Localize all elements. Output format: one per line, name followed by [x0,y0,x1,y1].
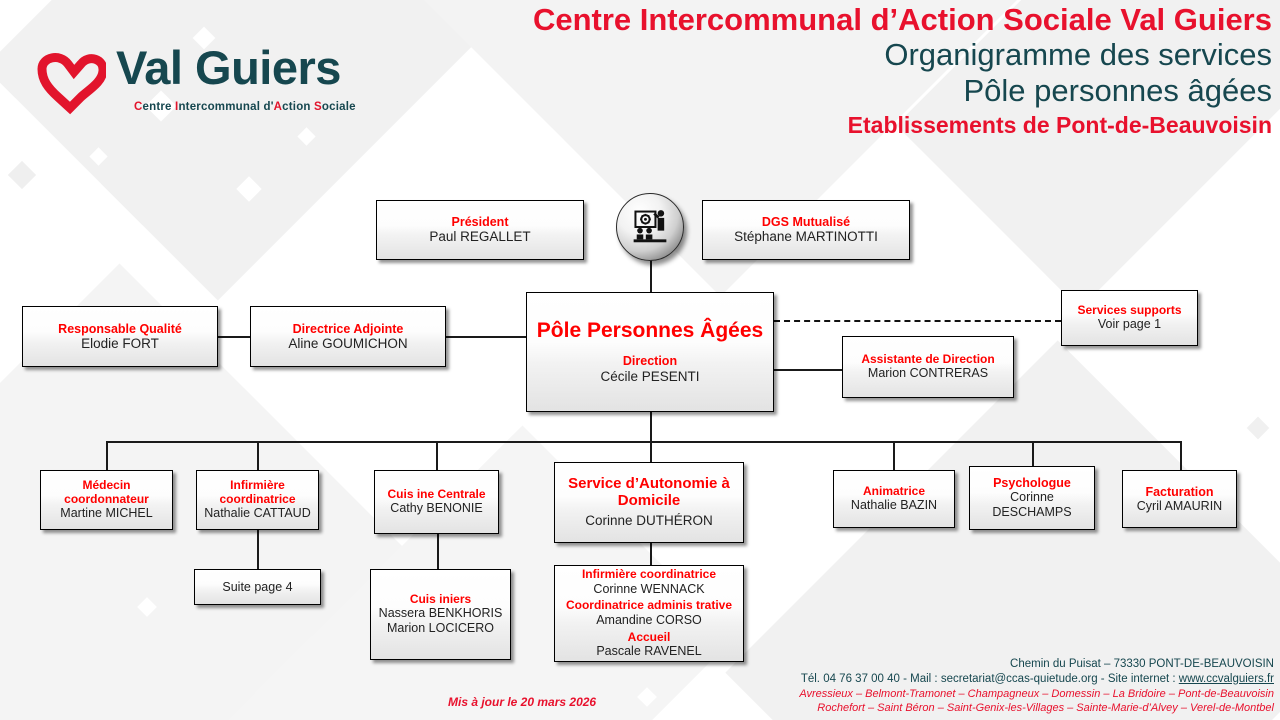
node-pole-personnes-agees[interactable]: Pôle Personnes Âgées Direction Cécile PE… [526,292,774,412]
node-infirmiere-coordinatrice[interactable]: Infirmière coordinatrice Nathalie CATTAU… [196,470,319,530]
node-dgs[interactable]: DGS Mutualisé Stéphane MARTINOTTI [702,200,910,260]
node-directrice-adjointe[interactable]: Directrice Adjointe Aline GOUMICHON [250,306,446,367]
title-line-4: Etablissements de Pont-de-Beauvoisin [533,111,1272,140]
node-adjointe-title: Directrice Adjointe [293,322,404,336]
connector-icon-to-pole [650,258,652,292]
node-dgs-name: Stéphane MARTINOTTI [734,229,878,245]
logo-tagline: Centre Intercommunal d'Action Sociale [134,101,356,113]
node-pole-name: Cécile PESENTI [600,369,699,385]
connector-pole-stem [650,412,652,442]
node-president-title: Président [452,215,509,229]
training-presentation-icon [616,193,684,261]
node-qualite-name: Elodie FORT [81,336,159,352]
sad-sub-row-0-name: Corinne WENNACK [582,582,716,597]
node-pole-subtitle: Direction [623,354,677,369]
node-animatrice-title: Animatrice [863,485,925,498]
connector-drop-facturation [1180,441,1182,470]
sad-sub-row-0: Infirmière coordinatrice Corinne WENNACK [582,568,716,596]
footer-contact: Tél. 04 76 37 00 40 - Mail : secretariat… [799,672,1274,687]
node-psychologue[interactable]: Psychologue Corinne DESCHAMPS [969,466,1095,530]
sad-sub-row-0-title: Infirmière coordinatrice [582,568,716,581]
node-dgs-title: DGS Mutualisé [762,215,850,229]
footer-website-link[interactable]: www.ccvalguiers.fr [1179,673,1274,685]
sad-sub-row-1-title: Coordinatrice adminis trative [566,599,732,612]
connector-sad-sub [650,543,652,565]
brand-logo: Val Guiers Centre Intercommunal d'Action… [30,36,360,126]
node-facturation[interactable]: Facturation Cyril AMAURIN [1122,470,1237,528]
node-qualite-title: Responsable Qualité [58,322,182,336]
connector-adjointe-pole [444,336,528,338]
node-animatrice[interactable]: Animatrice Nathalie BAZIN [833,470,955,528]
node-supports-title: Services supports [1077,304,1181,317]
node-supports-name: Voir page 1 [1098,317,1161,332]
node-cuisiniers-title: Cuis iniers [410,593,471,606]
node-animatrice-name: Nathalie BAZIN [851,498,937,513]
title-line-2: Organigramme des services [533,37,1272,73]
title-line-1: Centre Intercommunal d’Action Sociale Va… [533,2,1272,37]
node-assistante-direction[interactable]: Assistante de Direction Marion CONTRERAS [842,336,1014,398]
sad-sub-row-1: Coordinatrice adminis trative Amandine C… [566,599,732,627]
node-psychologue-title: Psychologue [993,476,1071,490]
connector-cuisine-cuisiniers [437,534,439,569]
title-line-3: Pôle personnes âgées [533,73,1272,109]
page-title-block: Centre Intercommunal d’Action Sociale Va… [533,2,1272,140]
connector-infirmiere-suite4 [257,530,259,569]
node-psychologue-name: Corinne DESCHAMPS [975,490,1089,520]
sad-sub-row-1-name: Amandine CORSO [566,613,732,628]
footer-towns-line-2: Rochefort – Saint Béron – Saint-Genix-le… [799,701,1274,716]
node-suite-page-4[interactable]: Suite page 4 [194,569,321,605]
node-president-name: Paul REGALLET [429,229,530,245]
connector-drop-cuisine [436,441,438,470]
node-sad-title: Service d’Autonomie à Domicile [560,476,738,510]
node-services-supports[interactable]: Services supports Voir page 1 [1061,290,1198,346]
node-cuisine-title: Cuis ine Centrale [387,488,485,501]
node-responsable-qualite[interactable]: Responsable Qualité Elodie FORT [22,306,218,367]
node-facturation-title: Facturation [1145,485,1213,499]
footer-towns-line-1: Avressieux – Belmont-Tramonet – Champagn… [799,687,1274,702]
connector-drop-medecin [106,441,108,470]
last-updated-label: Mis à jour le 20 mars 2026 [448,695,596,709]
footer-block: Chemin du Puisat – 73330 PONT-DE-BEAUVOI… [799,657,1274,716]
node-infirmiere-name: Nathalie CATTAUD [204,506,311,521]
footer-contact-text: Tél. 04 76 37 00 40 - Mail : secretariat… [801,673,1179,685]
node-president[interactable]: Président Paul REGALLET [376,200,584,260]
connector-pole-assistante [774,369,842,371]
node-pole-title: Pôle Personnes Âgées [537,319,763,342]
connector-qualite-adjointe [216,336,252,338]
connector-drop-animatrice [893,441,895,470]
node-facturation-name: Cyril AMAURIN [1137,499,1222,514]
node-medecin-title: Médecin coordonnateur [46,479,167,506]
sad-sub-row-2: Accueil Pascale RAVENEL [596,631,701,659]
node-cuisiniers-name-1: Nassera BENKHORIS [379,606,503,621]
node-cuisiniers[interactable]: Cuis iniers Nassera BENKHORIS Marion LOC… [370,569,511,660]
connector-main-bus [106,441,1181,443]
node-adjointe-name: Aline GOUMICHON [288,336,407,352]
connector-drop-infirmiere [257,441,259,470]
node-suite4-name: Suite page 4 [222,580,292,595]
footer-address: Chemin du Puisat – 73330 PONT-DE-BEAUVOI… [799,657,1274,672]
sad-sub-row-2-title: Accueil [596,631,701,644]
node-sad-name: Corinne DUTHÉRON [585,513,713,529]
node-assistante-title: Assistante de Direction [861,353,994,366]
node-medecin-name: Martine MICHEL [60,506,152,521]
connector-drop-psy [1032,441,1034,466]
node-service-autonomie-domicile[interactable]: Service d’Autonomie à Domicile Corinne D… [554,462,744,543]
heart-logo-icon [34,52,106,118]
connector-pole-supports [774,320,1061,322]
node-medecin-coordonnateur[interactable]: Médecin coordonnateur Martine MICHEL [40,470,173,530]
node-sad-sub[interactable]: Infirmière coordinatrice Corinne WENNACK… [554,565,744,662]
logo-wordmark: Val Guiers [116,40,341,95]
node-cuisine-name: Cathy BENONIE [390,501,482,516]
node-infirmiere-title: Infirmière coordinatrice [202,479,313,506]
node-assistante-name: Marion CONTRERAS [868,366,988,381]
sad-sub-row-2-name: Pascale RAVENEL [596,644,701,659]
connector-drop-sad [650,441,652,462]
node-cuisine-centrale[interactable]: Cuis ine Centrale Cathy BENONIE [374,470,499,534]
node-cuisiniers-name-2: Marion LOCICERO [387,621,494,636]
